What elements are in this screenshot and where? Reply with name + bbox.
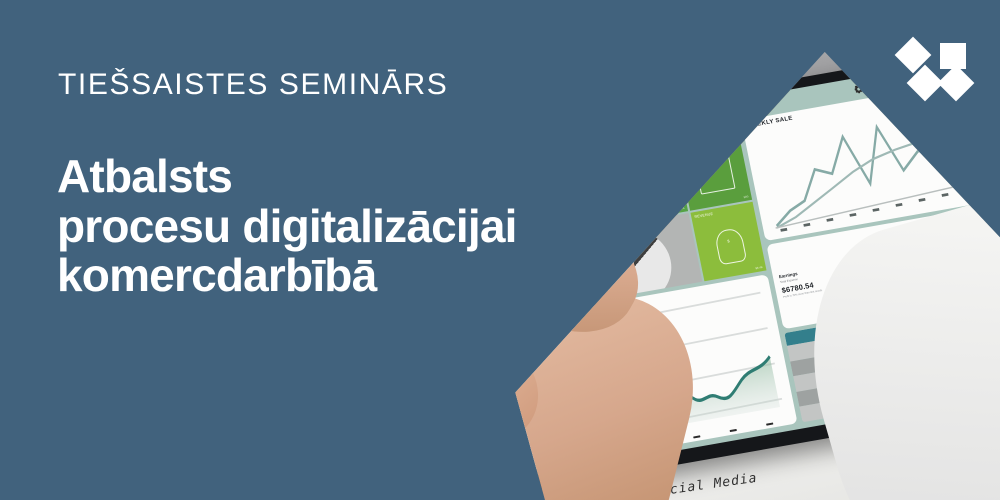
tile-value: 48.5K bbox=[549, 228, 557, 233]
webinar-banner: Search Dashboard VISITORS bbox=[0, 0, 1000, 500]
headline-line-2: procesu digitalizācijai bbox=[57, 202, 517, 252]
brand-logo[interactable] bbox=[898, 40, 976, 102]
chat-bubbles-icon bbox=[617, 150, 684, 216]
tile-label: COMMENT bbox=[616, 146, 673, 160]
tile-value: 12.8K bbox=[613, 217, 621, 222]
headline-line-3: komercdarbībā bbox=[57, 251, 517, 301]
person-icon bbox=[553, 161, 620, 227]
search-icon bbox=[872, 83, 879, 90]
gear-icon[interactable] bbox=[853, 84, 864, 94]
eyebrow-text: TIEŠSAISTES SEMINĀRS bbox=[58, 68, 448, 102]
tile-label: PIN bbox=[680, 135, 737, 149]
pointing-hand bbox=[480, 190, 771, 500]
search-placeholder: Search bbox=[881, 80, 896, 87]
logo-diamond-bottom-right bbox=[938, 65, 975, 102]
tile-comment[interactable]: COMMENT 3.2K bbox=[612, 142, 688, 221]
headline-line-1: Atbalsts bbox=[57, 152, 517, 202]
tile-label: USERS bbox=[552, 157, 609, 171]
fingertip bbox=[601, 196, 655, 247]
dashboard-nav-label: Dashboard bbox=[480, 121, 737, 175]
pencil-icon bbox=[684, 150, 697, 196]
tile-value: 72.1K bbox=[564, 298, 572, 303]
tile-users[interactable]: USERS 12.8K bbox=[549, 154, 625, 233]
tooltip-swatch bbox=[575, 314, 581, 320]
logo-square-top-right bbox=[940, 43, 966, 69]
page-title: Atbalsts procesu digitalizācijai komercd… bbox=[57, 152, 517, 301]
